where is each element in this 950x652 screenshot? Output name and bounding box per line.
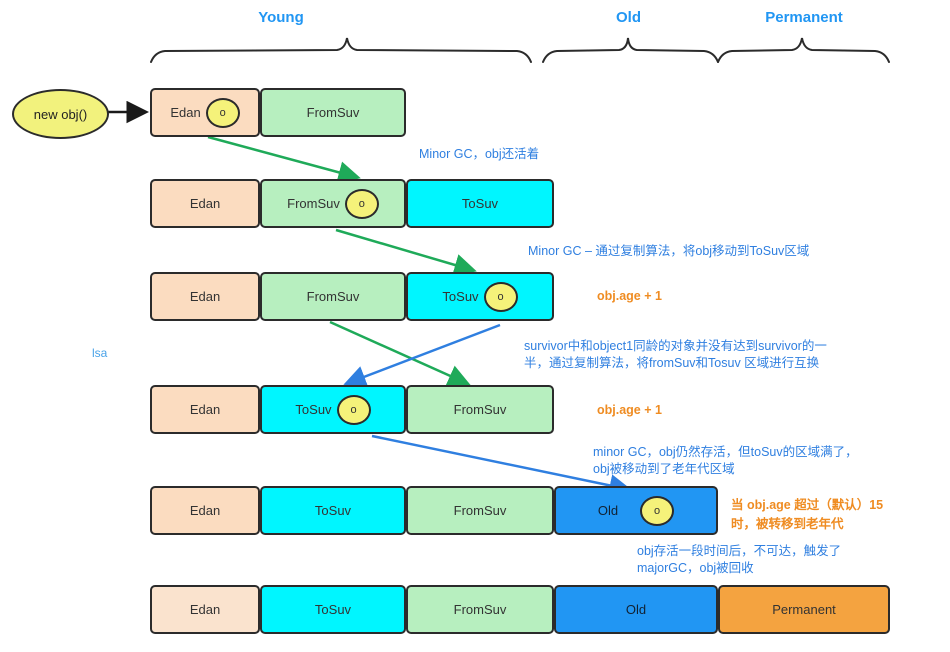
- note-minor-gc-alive: Minor GC，obj还活着: [419, 146, 539, 163]
- arrow-fromsuv-to-tosuv: [336, 230, 472, 270]
- object-bubble: o: [345, 189, 379, 219]
- segment-tosuv[interactable]: ToSuv o: [260, 385, 406, 434]
- new-obj-label: new obj(): [34, 107, 87, 122]
- region-label-young: Young: [150, 9, 412, 26]
- arrow-eden-to-fromsuv: [208, 137, 356, 177]
- arrow-swap-blue: [348, 325, 500, 383]
- segment-label: FromSuv: [454, 602, 507, 617]
- segment-fromsuv[interactable]: FromSuv o: [260, 179, 406, 228]
- segment-eden[interactable]: Edan: [150, 385, 260, 434]
- segment-fromsuv[interactable]: FromSuv: [260, 88, 406, 137]
- region-label-permanent: Permanent: [718, 9, 890, 26]
- segment-tosuv[interactable]: ToSuv: [260, 486, 406, 535]
- object-bubble: o: [484, 282, 518, 312]
- segment-permanent[interactable]: Permanent: [718, 585, 890, 634]
- segment-tosuv[interactable]: ToSuv: [260, 585, 406, 634]
- memory-row-4: Edan ToSuv o FromSuv: [150, 385, 554, 434]
- segment-label: Edan: [190, 196, 220, 211]
- side-label-lsa: lsa: [92, 345, 107, 362]
- segment-old[interactable]: Old: [554, 585, 718, 634]
- segment-fromsuv[interactable]: FromSuv: [406, 486, 554, 535]
- note-tosuv-full: minor GC，obj仍然存活，但toSuv的区域满了， obj被移动到了老年…: [593, 444, 913, 478]
- segment-label: ToSuv: [462, 196, 498, 211]
- segment-label: ToSuv: [442, 289, 478, 304]
- segment-label: Edan: [190, 402, 220, 417]
- segment-label: ToSuv: [315, 602, 351, 617]
- object-bubble: o: [337, 395, 371, 425]
- segment-label: Edan: [190, 503, 220, 518]
- segment-eden[interactable]: Edan: [150, 179, 260, 228]
- segment-label: ToSuv: [295, 402, 331, 417]
- region-label-old: Old: [543, 9, 714, 26]
- segment-fromsuv[interactable]: FromSuv: [406, 585, 554, 634]
- segment-eden[interactable]: Edan: [150, 486, 260, 535]
- segment-label: FromSuv: [307, 105, 360, 120]
- memory-row-1: Edan o FromSuv: [150, 88, 406, 137]
- brace-young: [151, 38, 531, 62]
- segment-tosuv[interactable]: ToSuv: [406, 179, 554, 228]
- segment-eden[interactable]: Edan: [150, 272, 260, 321]
- brace-old: [543, 38, 718, 62]
- object-bubble: o: [206, 98, 240, 128]
- diagram-canvas: Young Old Permanent new obj() lsa Edan o…: [0, 0, 950, 652]
- segment-fromsuv[interactable]: FromSuv: [406, 385, 554, 434]
- segment-label: FromSuv: [287, 196, 340, 211]
- segment-label: Edan: [190, 602, 220, 617]
- note-major-gc: obj存活一段时间后，不可达，触发了 majorGC，obj被回收: [637, 543, 927, 577]
- segment-old[interactable]: Old o: [554, 486, 718, 535]
- note-age-plus-1-a: obj.age + 1: [597, 288, 662, 305]
- brace-permanent: [718, 38, 889, 62]
- arrow-swap-green: [330, 322, 466, 383]
- segment-eden[interactable]: Edan o: [150, 88, 260, 137]
- memory-row-3: Edan FromSuv ToSuv o: [150, 272, 554, 321]
- note-age-plus-1-b: obj.age + 1: [597, 402, 662, 419]
- memory-row-2: Edan FromSuv o ToSuv: [150, 179, 554, 228]
- memory-row-5: Edan ToSuv FromSuv Old o: [150, 486, 718, 535]
- new-obj-node[interactable]: new obj(): [12, 89, 109, 139]
- note-survivor-swap: survivor中和object1同龄的对象并没有达到survivor的一 半，…: [524, 338, 864, 372]
- arrow-promote-old: [372, 436, 627, 489]
- object-bubble: o: [640, 496, 674, 526]
- segment-fromsuv[interactable]: FromSuv: [260, 272, 406, 321]
- segment-label: ToSuv: [315, 503, 351, 518]
- segment-tosuv[interactable]: ToSuv o: [406, 272, 554, 321]
- segment-label: FromSuv: [454, 503, 507, 518]
- segment-label: FromSuv: [454, 402, 507, 417]
- segment-label: Edan: [190, 289, 220, 304]
- memory-row-6: Edan ToSuv FromSuv Old Permanent: [150, 585, 890, 634]
- note-minor-gc-copy: Minor GC – 通过复制算法，将obj移动到ToSuv区域: [528, 243, 809, 260]
- segment-eden[interactable]: Edan: [150, 585, 260, 634]
- segment-label: Permanent: [772, 602, 836, 617]
- note-age-threshold: 当 obj.age 超过（默认）15 时，被转移到老年代: [731, 496, 931, 534]
- segment-label: FromSuv: [307, 289, 360, 304]
- segment-label: Old: [598, 503, 618, 518]
- segment-label: Old: [626, 602, 646, 617]
- segment-label: Edan: [170, 105, 200, 120]
